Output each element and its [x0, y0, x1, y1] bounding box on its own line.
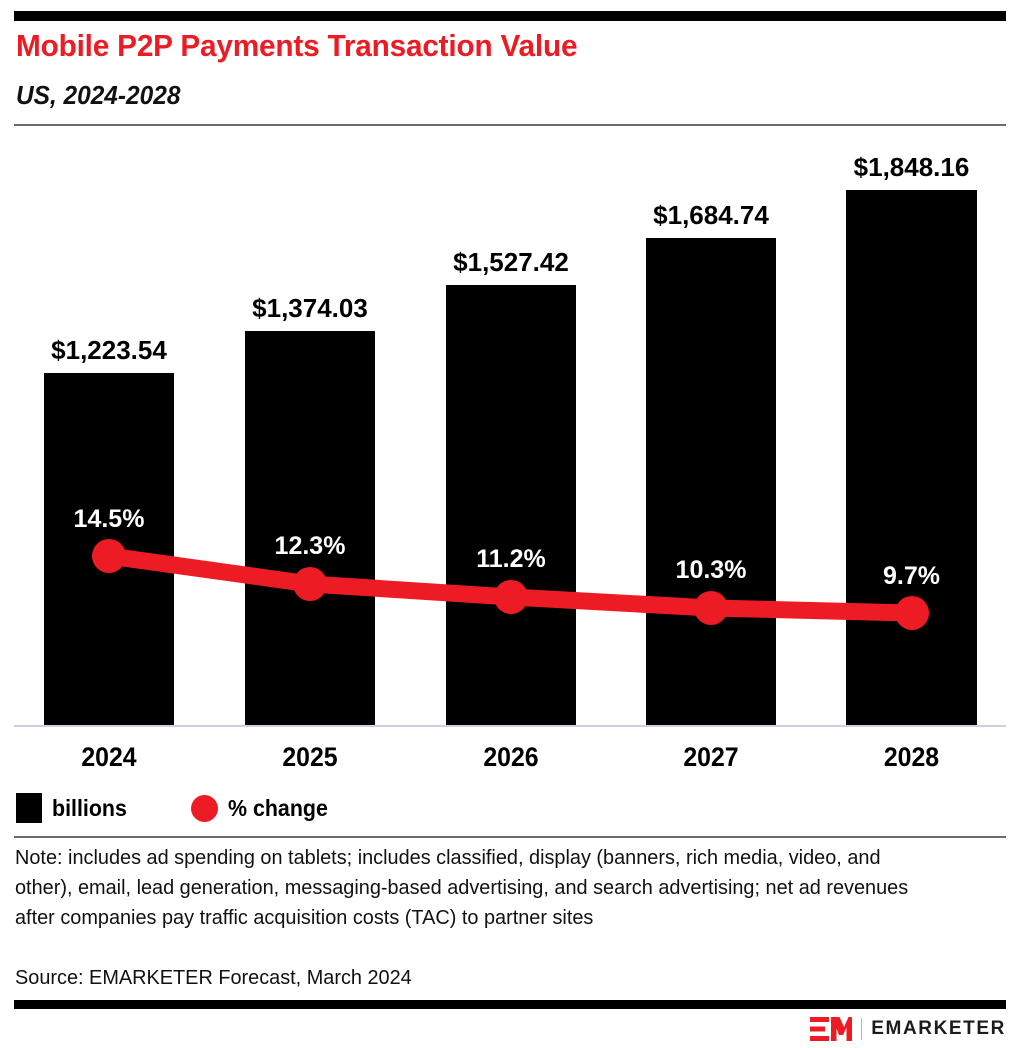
footnote-divider	[14, 836, 1006, 838]
percent-change-label: 11.2%	[446, 545, 576, 574]
percent-change-label: 12.3%	[245, 532, 375, 561]
emarketer-em-icon	[810, 1017, 852, 1041]
line-marker	[694, 591, 728, 625]
header-divider	[14, 124, 1006, 126]
line-marker	[494, 580, 528, 614]
chart-source: Source: EMARKETER Forecast, March 2024	[15, 963, 412, 993]
percent-change-label: 9.7%	[846, 562, 977, 591]
brand-logo: EMARKETER	[810, 1016, 1006, 1042]
legend-circle-icon	[191, 795, 218, 822]
legend-label: billions	[52, 795, 127, 822]
percent-change-line	[0, 130, 1020, 730]
x-axis-line	[14, 725, 1006, 727]
chart-legend: billions % change	[16, 793, 335, 823]
chart-title: Mobile P2P Payments Transaction Value	[16, 28, 577, 64]
x-tick-2024: 2024	[49, 742, 169, 773]
percent-change-label: 10.3%	[646, 556, 776, 585]
x-tick-2027: 2027	[651, 742, 771, 773]
percent-change-label: 14.5%	[44, 505, 174, 534]
brand-divider	[861, 1018, 863, 1040]
x-tick-2028: 2028	[851, 742, 972, 773]
bottom-divider	[14, 1000, 1006, 1009]
legend-square-icon	[16, 793, 42, 823]
line-marker	[895, 596, 929, 630]
top-divider	[14, 11, 1006, 21]
line-marker	[293, 567, 327, 601]
legend-item-percent-change: % change	[191, 795, 335, 822]
legend-item-billions: billions	[16, 793, 133, 823]
chart-subtitle: US, 2024-2028	[16, 80, 180, 111]
x-tick-2026: 2026	[451, 742, 571, 773]
line-marker	[92, 539, 126, 573]
legend-label: % change	[228, 795, 328, 822]
x-tick-2025: 2025	[250, 742, 370, 773]
plot-area: $1,223.54 $1,374.03 $1,527.42 $1,684.74 …	[0, 130, 1020, 730]
brand-name: EMARKETER	[871, 1018, 1006, 1040]
chart-page: Mobile P2P Payments Transaction Value US…	[0, 0, 1020, 1048]
chart-note: Note: includes ad spending on tablets; i…	[15, 843, 917, 933]
